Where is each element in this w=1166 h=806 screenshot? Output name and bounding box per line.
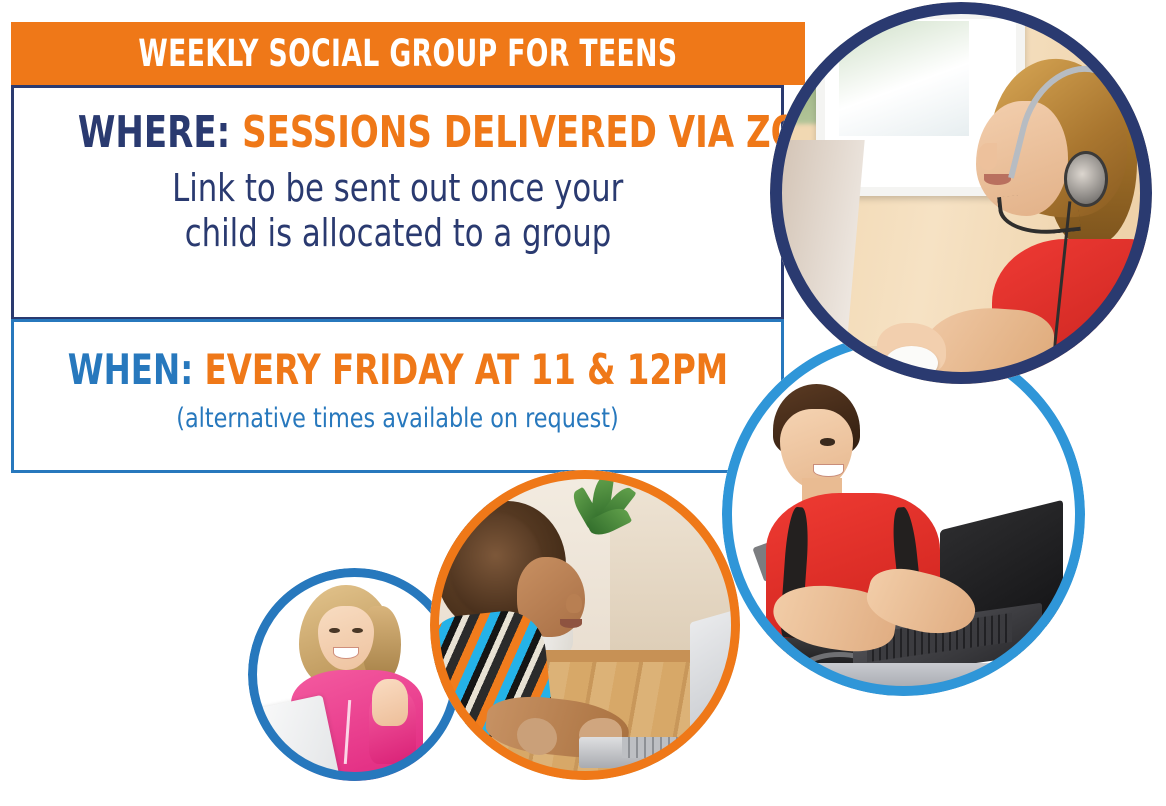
where-detail-line-2: child is allocated to a group: [184, 211, 611, 256]
when-section: WHEN: EVERY FRIDAY AT 11 & 12PM (alterna…: [11, 319, 784, 473]
photo-ring: [722, 333, 1085, 696]
when-detail: (alternative times available on request): [14, 404, 781, 434]
where-detail-line-1: Link to be sent out once your: [172, 166, 623, 211]
photo-boy-in-wheelchair-with-laptop: [722, 333, 1085, 696]
where-detail: Link to be sent out once your child is a…: [14, 166, 781, 256]
photo-ring: [430, 470, 740, 780]
where-heading: WHERE: SESSIONS DELIVERED VIA ZOOM: [14, 110, 781, 156]
when-value: EVERY FRIDAY AT 11 & 12PM: [205, 345, 729, 394]
where-section: WHERE: SESSIONS DELIVERED VIA ZOOM Link …: [11, 85, 784, 320]
photo-ring: [770, 2, 1152, 384]
where-label: WHERE:: [78, 107, 230, 158]
when-label: WHEN:: [68, 345, 193, 394]
header-title: WEEKLY SOCIAL GROUP FOR TEENS: [138, 35, 677, 72]
when-detail-text: (alternative times available on request): [176, 404, 619, 434]
header-banner: WEEKLY SOCIAL GROUP FOR TEENS: [11, 22, 805, 85]
when-heading: WHEN: EVERY FRIDAY AT 11 & 12PM: [14, 348, 781, 392]
photo-girl-on-floor-with-laptop: [430, 470, 740, 780]
photo-teen-with-headset-at-computer: [770, 2, 1152, 384]
